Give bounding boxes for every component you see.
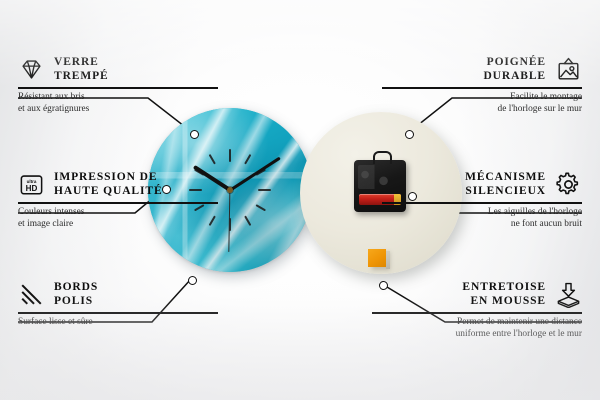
connector-dot-mecanisme	[408, 192, 417, 201]
clock-tick	[189, 189, 271, 191]
callout-impression-haute-qualite: ultra HD IMPRESSION DE HAUTE QUALITÉ Cou…	[18, 171, 218, 230]
leader-line-entretoise	[382, 284, 582, 322]
clock-back-view	[300, 112, 462, 274]
polished-edges-icon	[18, 281, 45, 308]
svg-text:ultra: ultra	[27, 179, 37, 184]
callout-title-line2: EN MOUSSE	[462, 295, 546, 309]
callout-title-line1: MÉCANISME	[465, 171, 546, 185]
clock-tick	[194, 169, 266, 212]
infographic-canvas: VERRE TREMPÉ Résistant aux bris et aux é…	[0, 0, 600, 400]
connector-dot-entretoise	[379, 281, 388, 290]
clock-tick	[229, 149, 231, 231]
clock-tick	[209, 154, 252, 226]
ultra-hd-icon: ultra HD	[18, 171, 45, 198]
callout-mecanisme-silencieux: MÉCANISME SILENCIEUX Les aiguilles de l'…	[382, 171, 582, 230]
gear-icon	[555, 171, 582, 198]
callout-rule	[18, 202, 218, 204]
hanging-handle	[373, 151, 392, 164]
svg-text:HD: HD	[26, 184, 38, 193]
callout-subtitle-line2: et aux égratignures	[18, 104, 218, 116]
clock-front-face	[148, 108, 312, 272]
callout-subtitle-line1: Résistant aux bris	[18, 89, 218, 104]
callout-title-line2: POLIS	[54, 295, 98, 309]
callout-title-line2: TREMPÉ	[54, 70, 109, 84]
hour-hand	[193, 165, 231, 192]
callout-title-line2: SILENCIEUX	[465, 185, 546, 199]
connector-dot-impression	[162, 185, 171, 194]
callout-verre-trempe: VERRE TREMPÉ Résistant aux bris et aux é…	[18, 56, 218, 115]
clock-tick	[209, 154, 252, 226]
callout-subtitle-line2: uniforme entre l'horloge et le mur	[372, 329, 582, 341]
glass-reflection-cross	[148, 108, 312, 272]
clock-tick	[189, 189, 271, 191]
feather-pattern-graphic	[148, 108, 312, 272]
aa-battery	[359, 194, 401, 205]
clock-tick	[209, 154, 252, 226]
callout-rule	[372, 312, 582, 314]
callout-subtitle-line1: Facilite le montage	[382, 89, 582, 104]
callout-bords-polis: BORDS POLIS Surface lisse et sûre	[18, 281, 218, 329]
callout-subtitle-line2: de l'horloge sur le mur	[382, 104, 582, 116]
foam-spacer	[368, 249, 386, 267]
callout-entretoise-en-mousse: ENTRETOISE EN MOUSSE Permet de maintenir…	[372, 281, 582, 340]
leader-line-impression	[18, 188, 165, 213]
callout-subtitle-line1: Surface lisse et sûre	[18, 314, 218, 329]
leader-line-bords	[18, 279, 191, 322]
clock-tick	[209, 154, 252, 226]
callout-rule	[382, 87, 582, 89]
clock-tick	[194, 169, 266, 212]
leader-line-mecanisme	[411, 195, 582, 213]
movement-detail	[358, 165, 402, 189]
clock-tick	[194, 169, 266, 212]
callout-title-line1: VERRE	[54, 56, 109, 70]
leader-line-poignee	[408, 98, 582, 133]
foam-spacer-icon	[555, 281, 582, 308]
callout-title-line2: HAUTE QUALITÉ	[54, 185, 163, 199]
connector-dot-bords	[188, 276, 197, 285]
callout-rule	[18, 312, 218, 314]
glass-sheen	[148, 108, 312, 272]
hanging-frame-icon	[555, 56, 582, 83]
callout-rule	[382, 202, 582, 204]
callout-subtitle-line1: Couleurs intenses	[18, 204, 218, 219]
second-hand	[228, 190, 230, 252]
callout-subtitle-line1: Les aiguilles de l'horloge	[382, 204, 582, 219]
callout-title-line2: DURABLE	[483, 70, 546, 84]
clock-tick	[229, 149, 231, 231]
leader-lines	[0, 0, 600, 400]
callout-title-line1: BORDS	[54, 281, 98, 295]
quartz-movement	[354, 160, 406, 212]
leader-line-verre-trempe	[18, 98, 193, 133]
minute-hand	[229, 157, 280, 192]
clock-tick	[194, 169, 266, 212]
callout-title-line1: POIGNÉE	[483, 56, 546, 70]
callout-rule	[18, 87, 218, 89]
connector-dot-poignee	[405, 130, 414, 139]
callout-subtitle-line2: ne font aucun bruit	[382, 219, 582, 231]
callout-subtitle-line2: et image claire	[18, 219, 218, 231]
hand-center-cap	[227, 187, 233, 193]
callout-title-line1: ENTRETOISE	[462, 281, 546, 295]
callout-poignee-durable: POIGNÉE DURABLE Facilite le montage de l…	[382, 56, 582, 115]
callout-subtitle-line1: Permet de maintenir une distance	[372, 314, 582, 329]
diamond-icon	[18, 56, 45, 83]
connector-dot-verre-trempe	[190, 130, 199, 139]
callout-title-line1: IMPRESSION DE	[54, 171, 163, 185]
